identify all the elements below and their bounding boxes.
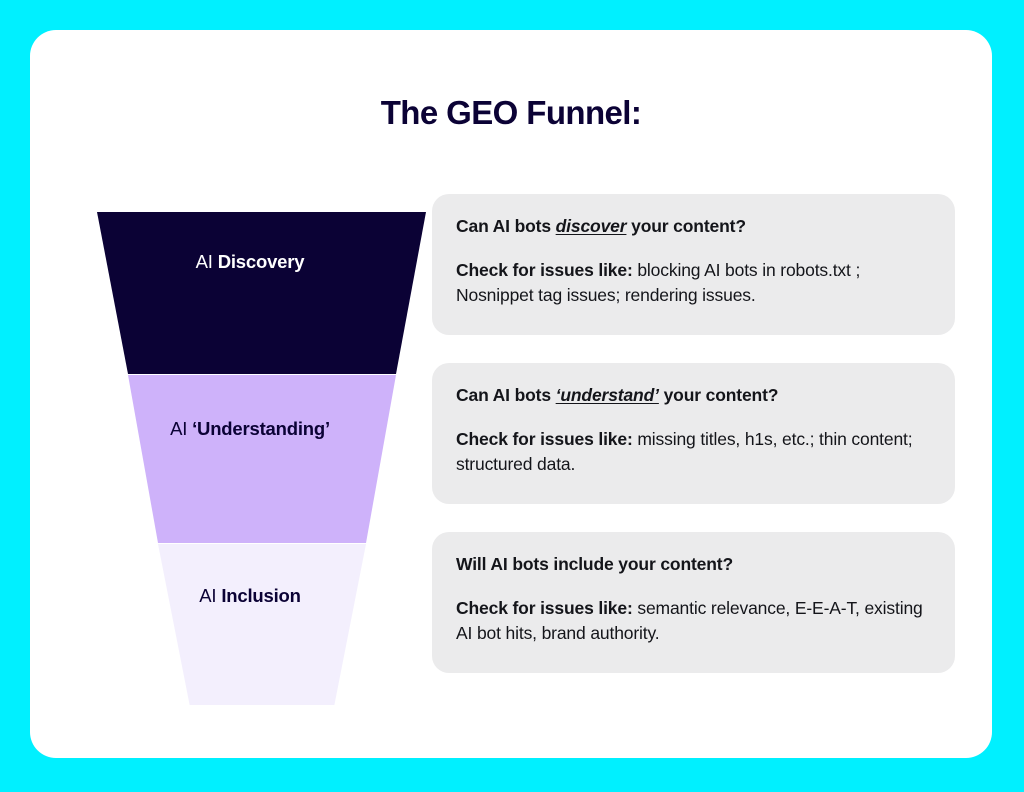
page-title: The GEO Funnel: xyxy=(30,94,992,132)
card-body-lead: Check for issues like: xyxy=(456,260,633,280)
funnel-segment-inclusion xyxy=(158,544,366,705)
card-heading: Can AI bots ‘understand’ your content? xyxy=(456,385,929,407)
funnel-segment-understanding xyxy=(128,375,396,543)
card-body: Check for issues like: blocking AI bots … xyxy=(456,258,929,309)
card-body: Check for issues like: semantic relevanc… xyxy=(456,596,929,647)
card-heading-after: your content? xyxy=(659,385,778,405)
info-card-understanding: Can AI bots ‘understand’ your content? C… xyxy=(432,363,955,504)
white-panel: The GEO Funnel: AI Discovery AI ‘Underst… xyxy=(30,30,992,758)
infographic-canvas: The GEO Funnel: AI Discovery AI ‘Underst… xyxy=(0,0,1024,792)
funnel-graphic: AI Discovery AI ‘Understanding’ AI Inclu… xyxy=(60,175,440,705)
card-heading-after: your content? xyxy=(626,216,745,236)
card-body-lead: Check for issues like: xyxy=(456,598,633,618)
funnel-svg xyxy=(60,175,440,705)
card-heading-emphasis: discover xyxy=(556,216,627,236)
card-body-lead: Check for issues like: xyxy=(456,429,633,449)
card-heading-before: Can AI bots xyxy=(456,216,556,236)
info-card-inclusion: Will AI bots include your content? Check… xyxy=(432,532,955,673)
card-heading-before: Will AI bots include your content? xyxy=(456,554,733,574)
info-card-discovery: Can AI bots discover your content? Check… xyxy=(432,194,955,335)
card-heading-before: Can AI bots xyxy=(456,385,556,405)
card-body: Check for issues like: missing titles, h… xyxy=(456,427,929,478)
funnel-segment-discovery xyxy=(97,212,426,374)
card-heading: Will AI bots include your content? xyxy=(456,554,929,576)
card-heading: Can AI bots discover your content? xyxy=(456,216,929,238)
card-heading-emphasis: ‘understand’ xyxy=(556,385,659,405)
